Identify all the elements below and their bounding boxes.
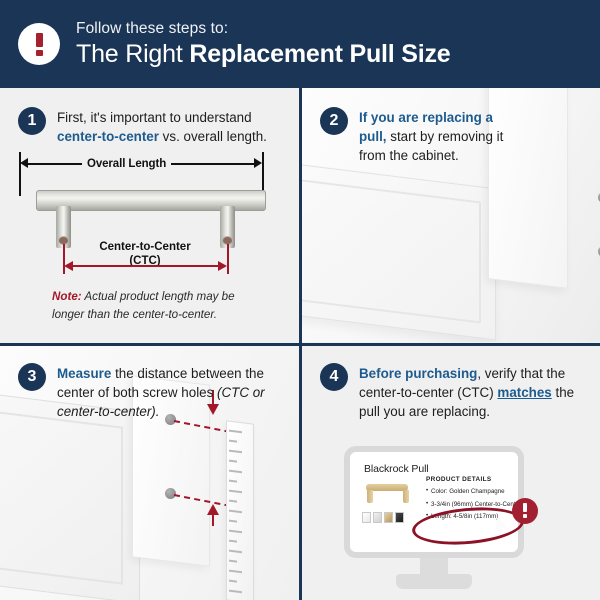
page-title: The Right Replacement Pull Size	[76, 41, 451, 69]
step-4-number: 4	[320, 363, 348, 391]
horizontal-divider	[0, 343, 600, 346]
step-1-text-part-2: center-to-center	[57, 129, 159, 144]
monitor-stand-base	[396, 574, 472, 589]
step-1-text: First, it's important to understand cent…	[57, 108, 271, 146]
ctc-label-line1: Center-to-Center	[99, 241, 190, 253]
product-thumbnail-strip	[362, 512, 404, 523]
step-3-head: 3 Measure the distance between the cente…	[18, 364, 271, 421]
exclamation-glyph	[36, 33, 43, 55]
thumbnail-3[interactable]	[384, 512, 393, 523]
door-panel-inset-2	[302, 176, 481, 323]
note-prefix: Note:	[52, 290, 82, 303]
ctc-tick-right	[227, 244, 229, 274]
product-title: Blackrock Pull	[364, 463, 429, 475]
door-panel-inset-3	[0, 403, 123, 585]
step-panel-1: 1 First, it's important to understand ce…	[0, 88, 298, 342]
pull-post-left	[56, 206, 71, 248]
header-kicker: Follow these steps to:	[76, 20, 451, 37]
ctc-arrow-line	[70, 265, 220, 267]
step-3-number: 3	[18, 363, 46, 391]
step-4-text-part-3[interactable]: matches	[497, 385, 551, 400]
step-1-text-part-3: vs. overall length.	[159, 129, 267, 144]
title-light: The Right	[76, 40, 189, 68]
step-panel-3: 3 Measure the distance between the cente…	[0, 346, 298, 600]
dim-arrow-left	[20, 158, 28, 168]
step-2-text: If you are replacing a pull, start by re…	[359, 108, 509, 165]
measure-arrow-bottom-head	[207, 499, 219, 515]
header-text-block: Follow these steps to: The Right Replace…	[76, 20, 451, 69]
step-3-text: Measure the distance between the center …	[57, 364, 271, 421]
thumbnail-2[interactable]	[373, 512, 382, 523]
product-detail-color: Color: Golden Champagne	[426, 488, 522, 497]
step-panel-2: 2 If you are replacing a pull, start by …	[302, 88, 600, 342]
overall-length-label: Overall Length	[82, 158, 171, 170]
pull-post-right	[220, 206, 235, 248]
thumbnail-4[interactable]	[395, 512, 404, 523]
infographic-root: Follow these steps to: The Right Replace…	[0, 0, 600, 600]
title-bold: Replacement Pull Size	[189, 40, 450, 68]
header-banner: Follow these steps to: The Right Replace…	[0, 0, 600, 88]
step-3-text-part-1: Measure	[57, 366, 111, 381]
ctc-arrow-left	[64, 261, 73, 271]
alert-exclamation-icon	[18, 23, 60, 65]
step-2-number: 2	[320, 107, 348, 135]
step-2-head: 2 If you are replacing a pull, start by …	[320, 108, 509, 165]
thumbnail-1[interactable]	[362, 512, 371, 523]
step-1-note: Note: Actual product length may be longe…	[52, 288, 264, 324]
ctc-arrow-right	[218, 261, 227, 271]
product-details-header: PRODUCT DETAILS	[426, 476, 522, 483]
step-4-text-part-1: Before purchasing	[359, 366, 477, 381]
step-1-head: 1 First, it's important to understand ce…	[18, 108, 271, 146]
dim-arrow-right	[254, 158, 262, 168]
step-4-head: 4 Before purchasing, verify that the cen…	[320, 364, 581, 421]
step-4-text: Before purchasing, verify that the cente…	[359, 364, 581, 421]
monitor-screen: Blackrock Pull PRODUCT DETAILS	[344, 446, 524, 558]
step-panel-4: 4 Before purchasing, verify that the cen…	[302, 346, 600, 600]
step-1-diagram: Overall Length Center-to-Center (CTC)	[18, 166, 280, 284]
ruler-graphic	[226, 420, 254, 600]
cabinet-door-2	[302, 160, 496, 341]
step-1-text-part-1: First, it's important to understand	[57, 110, 252, 125]
step-1-number: 1	[18, 107, 46, 135]
alert-exclamation-icon	[512, 498, 538, 524]
steps-grid: 1 First, it's important to understand ce…	[0, 88, 600, 600]
monitor-graphic: Blackrock Pull PRODUCT DETAILS	[344, 446, 536, 600]
product-image	[364, 482, 410, 506]
